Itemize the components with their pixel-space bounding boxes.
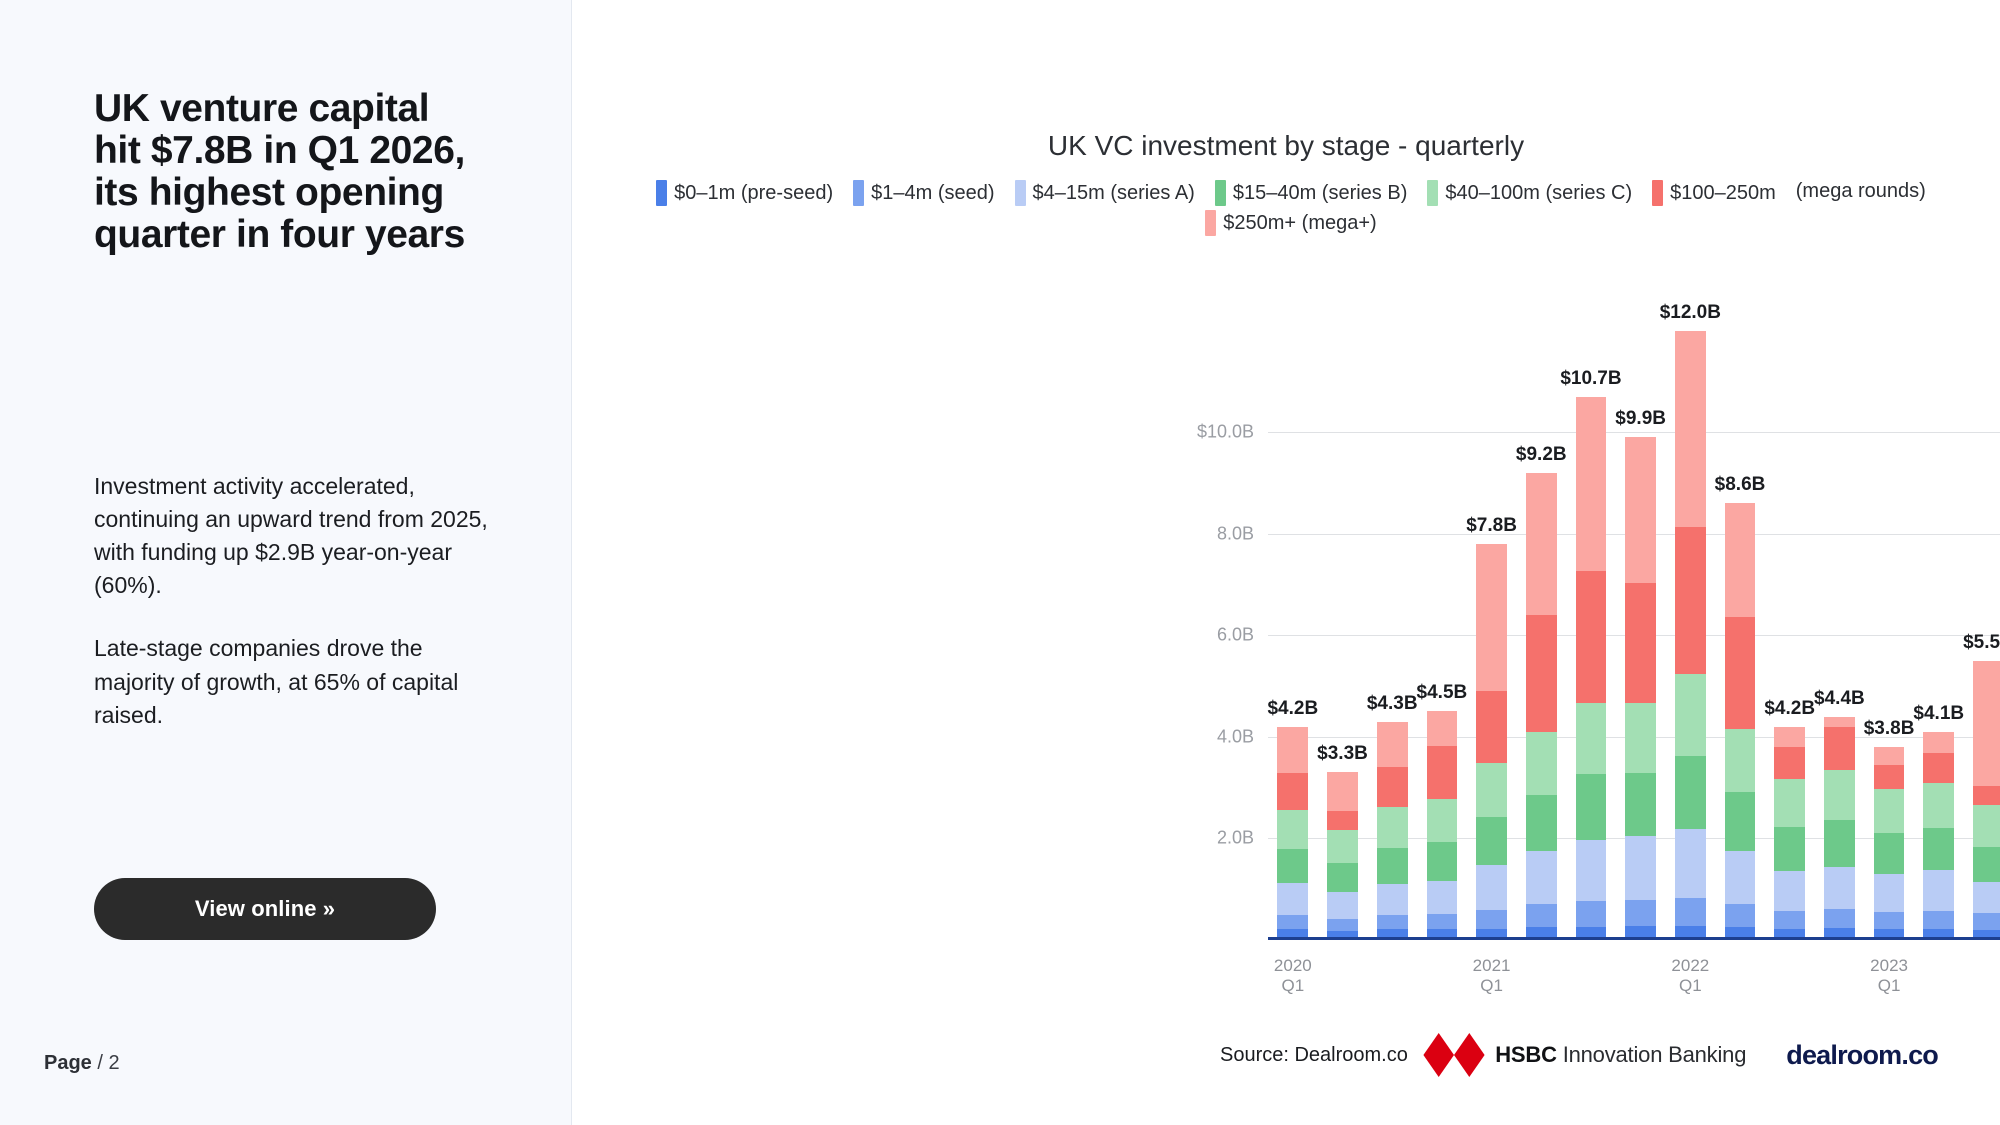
bar-value-label: $9.9B — [1615, 408, 1666, 430]
bar-value-label: $7.8B — [1466, 515, 1517, 537]
bar-segment[interactable] — [1277, 773, 1308, 810]
bar-segment[interactable] — [1476, 910, 1507, 929]
bar-segment[interactable] — [1277, 810, 1308, 849]
legend-item-label: $1–4m (seed) — [871, 182, 994, 205]
bar-slot[interactable]: $5.5B — [1964, 300, 2000, 940]
legend-item[interactable]: $15–40m (series B) — [1215, 180, 1408, 206]
bar-slot[interactable]: $12.0B — [1666, 300, 1716, 940]
bar-value-label: $8.6B — [1715, 474, 1766, 496]
bar-slot[interactable]: $4.5B — [1417, 300, 1467, 940]
bar-segment[interactable] — [1427, 914, 1458, 929]
bar-slot[interactable]: $4.2B — [1268, 300, 1318, 940]
x-axis-tick-label: 2020 Q1 — [1268, 956, 1318, 996]
y-axis-tick-label: 4.0B — [1217, 726, 1254, 747]
bar-segment[interactable] — [1625, 703, 1656, 773]
bar-segment[interactable] — [1327, 830, 1358, 863]
bar-segment[interactable] — [1675, 756, 1706, 830]
bar-segment[interactable] — [1824, 909, 1855, 928]
stacked-bar[interactable]: $8.6B — [1725, 503, 1756, 940]
x-axis-tick-blank — [1765, 956, 1815, 996]
dealroom-logo: dealroom.co — [1786, 1040, 1938, 1071]
legend-item-label: $250m+ (mega+) — [1223, 212, 1376, 235]
x-axis-tick-blank — [1715, 956, 1765, 996]
bar-segment[interactable] — [1725, 792, 1756, 850]
bar-slot[interactable]: $4.2B — [1765, 300, 1815, 940]
bar-segment[interactable] — [1476, 544, 1507, 691]
bar-value-label: $4.1B — [1913, 703, 1964, 725]
bar-segment[interactable] — [1725, 729, 1756, 792]
bar-segment[interactable] — [1277, 849, 1308, 884]
bar-segment[interactable] — [1625, 836, 1656, 899]
stacked-bar[interactable]: $9.2B — [1526, 473, 1557, 940]
bar-segment[interactable] — [1526, 732, 1557, 795]
x-axis-tick-blank — [1566, 956, 1616, 996]
hsbc-regular-text: Innovation Banking — [1563, 1042, 1747, 1067]
stacked-bar[interactable]: $3.3B — [1327, 772, 1358, 940]
bar-segment[interactable] — [1973, 805, 2000, 847]
bar-segment[interactable] — [1576, 571, 1607, 703]
bar-value-label: $3.3B — [1317, 743, 1368, 765]
x-axis-tick-blank — [1914, 956, 1964, 996]
left-panel: UK venture capital hit $7.8B in Q1 2026,… — [0, 0, 572, 1125]
bar-segment[interactable] — [1377, 915, 1408, 929]
bar-segment[interactable] — [1675, 674, 1706, 755]
stacked-bar[interactable]: $9.9B — [1625, 437, 1656, 940]
bar-segment[interactable] — [1774, 747, 1805, 778]
bar-segment[interactable] — [1427, 799, 1458, 842]
bar-segment[interactable] — [1774, 871, 1805, 911]
legend-item-label: $100–250m — [1670, 182, 1776, 205]
bar-value-label: $12.0B — [1660, 302, 1721, 324]
bar-segment[interactable] — [1476, 865, 1507, 910]
bar-segment[interactable] — [1824, 820, 1855, 867]
page-indicator-number: / 2 — [97, 1052, 119, 1074]
bar-value-label: $4.2B — [1267, 698, 1318, 720]
bar-slot[interactable]: $4.4B — [1815, 300, 1865, 940]
x-axis-tick-blank — [1964, 956, 2000, 996]
bar-segment[interactable] — [1774, 827, 1805, 872]
bar-segment[interactable] — [1526, 473, 1557, 615]
legend-item[interactable]: $250m+ (mega+) — [1205, 210, 1376, 236]
bar-segment[interactable] — [1874, 789, 1905, 834]
bar-segment[interactable] — [1427, 711, 1458, 746]
bar-slot[interactable]: $4.3B — [1367, 300, 1417, 940]
bar-segment[interactable] — [1576, 901, 1607, 926]
legend-item[interactable]: $100–250m — [1652, 180, 1776, 206]
hsbc-logo: HSBC Innovation Banking — [1423, 1033, 1746, 1077]
bar-segment[interactable] — [1526, 795, 1557, 851]
bar-segment[interactable] — [1923, 870, 1954, 911]
bar-segment[interactable] — [1327, 892, 1358, 918]
x-axis-tick-blank — [1367, 956, 1417, 996]
legend-item-label: (mega rounds) — [1796, 180, 1926, 203]
stacked-bar[interactable]: $4.4B — [1824, 717, 1855, 940]
bar-segment[interactable] — [1576, 840, 1607, 901]
bar-slot[interactable]: $8.6B — [1715, 300, 1765, 940]
bar-segment[interactable] — [1427, 746, 1458, 799]
bar-segment[interactable] — [1973, 661, 2000, 786]
chart-panel: UK VC investment by stage - quarterly $0… — [572, 0, 2000, 1125]
bar-segment[interactable] — [1277, 883, 1308, 914]
y-axis-tick-label: 2.0B — [1217, 828, 1254, 849]
legend-item-label: $4–15m (series A) — [1033, 182, 1195, 205]
bar-segment[interactable] — [1923, 753, 1954, 782]
bar-segment[interactable] — [1526, 615, 1557, 732]
legend-swatch-icon — [853, 180, 864, 206]
bar-slot[interactable]: $10.7B — [1566, 300, 1616, 940]
bar-segment[interactable] — [1923, 911, 1954, 929]
legend-swatch-icon — [1652, 180, 1663, 206]
bar-value-label: $3.8B — [1864, 718, 1915, 740]
x-axis-tick-blank — [1815, 956, 1865, 996]
bar-segment[interactable] — [1377, 767, 1408, 807]
bar-segment[interactable] — [1277, 915, 1308, 929]
x-axis-tick-blank — [1516, 956, 1566, 996]
page-indicator-word: Page — [44, 1052, 92, 1074]
chart-bars: $4.2B$3.3B$4.3B$4.5B$7.8B$9.2B$10.7B$9.9… — [1268, 300, 2000, 940]
slide-page: UK venture capital hit $7.8B in Q1 2026,… — [0, 0, 2000, 1125]
bar-segment[interactable] — [1625, 583, 1656, 702]
bar-segment[interactable] — [1774, 727, 1805, 747]
stacked-bar[interactable]: $4.2B — [1774, 727, 1805, 940]
bar-value-label: $4.3B — [1367, 693, 1418, 715]
chart-x-axis-line — [1268, 937, 2000, 940]
bar-segment[interactable] — [1377, 807, 1408, 848]
legend-swatch-icon — [1015, 180, 1026, 206]
x-axis-tick-label: 2021 Q1 — [1467, 956, 1517, 996]
bar-segment[interactable] — [1675, 331, 1706, 528]
bar-segment[interactable] — [1874, 765, 1905, 788]
stacked-bar[interactable]: $4.1B — [1923, 732, 1954, 940]
bar-segment[interactable] — [1476, 817, 1507, 865]
bar-value-label: $4.4B — [1814, 688, 1865, 710]
summary-text: Investment activity accelerated, continu… — [94, 470, 494, 732]
bar-slot[interactable]: $3.8B — [1864, 300, 1914, 940]
bar-segment[interactable] — [1675, 898, 1706, 926]
y-axis-tick-label: 8.0B — [1217, 523, 1254, 544]
bar-value-label: $9.2B — [1516, 444, 1567, 466]
source-note: Source: Dealroom.co — [1220, 1044, 1408, 1067]
bar-segment[interactable] — [1675, 829, 1706, 898]
stacked-bar[interactable]: $3.8B — [1874, 747, 1905, 940]
legend-item-label: $0–1m (pre-seed) — [674, 182, 833, 205]
bar-slot[interactable]: $4.1B — [1914, 300, 1964, 940]
page-indicator: Page / 2 — [44, 1052, 120, 1075]
bar-segment[interactable] — [1327, 772, 1358, 811]
bar-segment[interactable] — [1377, 884, 1408, 914]
bar-segment[interactable] — [1923, 732, 1954, 753]
bar-segment[interactable] — [1824, 727, 1855, 770]
bar-segment[interactable] — [1973, 847, 2000, 883]
chart-title: UK VC investment by stage - quarterly — [572, 130, 2000, 162]
x-axis-tick-label: 2023 Q1 — [1864, 956, 1914, 996]
bar-segment[interactable] — [1427, 881, 1458, 915]
bar-segment[interactable] — [1874, 833, 1905, 874]
legend-item[interactable]: $4–15m (series A) — [1015, 180, 1195, 206]
hsbc-wordmark: HSBC Innovation Banking — [1495, 1042, 1746, 1068]
bar-segment[interactable] — [1427, 842, 1458, 881]
bar-slot[interactable]: $9.9B — [1616, 300, 1666, 940]
bar-segment[interactable] — [1625, 773, 1656, 836]
x-axis-tick-label: 2022 Q1 — [1666, 956, 1716, 996]
bar-segment[interactable] — [1576, 774, 1607, 840]
legend-item[interactable]: $40–100m (series C) — [1427, 180, 1632, 206]
bar-segment[interactable] — [1526, 904, 1557, 927]
bar-segment[interactable] — [1277, 727, 1308, 774]
view-online-button[interactable]: View online » — [94, 878, 436, 940]
hsbc-hexagon-icon — [1423, 1033, 1485, 1077]
legend-item-label: $15–40m (series B) — [1233, 182, 1408, 205]
stacked-bar[interactable]: $7.8B — [1476, 544, 1507, 940]
bar-segment[interactable] — [1725, 503, 1756, 617]
bar-segment[interactable] — [1675, 527, 1706, 674]
summary-paragraph-2: Late-stage companies drove the majority … — [94, 632, 494, 731]
bar-segment[interactable] — [1774, 779, 1805, 827]
legend-swatch-icon — [1205, 210, 1216, 236]
bar-segment[interactable] — [1327, 863, 1358, 892]
bar-segment[interactable] — [1923, 783, 1954, 829]
bar-segment[interactable] — [1625, 900, 1656, 926]
chart-legend: $0–1m (pre-seed)$1–4m (seed)$4–15m (seri… — [632, 180, 1950, 236]
stacked-bar[interactable]: $12.0B — [1675, 331, 1706, 940]
bar-slot[interactable]: $3.3B — [1318, 300, 1368, 940]
bar-segment[interactable] — [1923, 828, 1954, 870]
bar-segment[interactable] — [1824, 717, 1855, 728]
stacked-bar[interactable]: $4.2B — [1277, 727, 1308, 940]
bar-slot[interactable]: $7.8B — [1467, 300, 1517, 940]
legend-item[interactable]: (mega rounds) — [1796, 180, 1926, 203]
bar-segment[interactable] — [1576, 703, 1607, 774]
bar-segment[interactable] — [1725, 904, 1756, 927]
bar-segment[interactable] — [1874, 874, 1905, 912]
legend-swatch-icon — [656, 180, 667, 206]
stacked-bar[interactable]: $4.5B — [1427, 711, 1458, 940]
bar-segment[interactable] — [1377, 848, 1408, 885]
legend-item[interactable]: $0–1m (pre-seed) — [656, 180, 833, 206]
y-axis-tick-label: $10.0B — [1197, 422, 1254, 443]
stacked-bar[interactable]: $5.5B — [1973, 661, 2000, 940]
bar-segment[interactable] — [1874, 747, 1905, 765]
bar-segment[interactable] — [1327, 811, 1358, 830]
bar-slot[interactable]: $9.2B — [1516, 300, 1566, 940]
bar-value-label: $4.5B — [1417, 682, 1468, 704]
bar-segment[interactable] — [1327, 919, 1358, 931]
legend-swatch-icon — [1427, 180, 1438, 206]
chart-x-axis-labels: 2020 Q12021 Q12022 Q12023 Q12024 Q12025 … — [1268, 956, 2000, 996]
bar-segment[interactable] — [1874, 912, 1905, 929]
legend-item[interactable]: $1–4m (seed) — [853, 180, 994, 206]
stacked-bar[interactable]: $4.3B — [1377, 722, 1408, 940]
bar-segment[interactable] — [1576, 397, 1607, 572]
bar-segment[interactable] — [1625, 437, 1656, 583]
bar-segment[interactable] — [1973, 786, 2000, 805]
legend-swatch-icon — [1215, 180, 1226, 206]
stacked-bar[interactable]: $10.7B — [1576, 397, 1607, 940]
y-axis-tick-label: 6.0B — [1217, 625, 1254, 646]
x-axis-tick-blank — [1318, 956, 1368, 996]
bar-segment[interactable] — [1774, 911, 1805, 929]
chart-plot-area: $10.0B8.0B6.0B4.0B2.0B $4.2B$3.3B$4.3B$4… — [1220, 300, 2000, 940]
hsbc-bold-text: HSBC — [1495, 1042, 1557, 1067]
bar-value-label: $4.2B — [1764, 698, 1815, 720]
bar-segment[interactable] — [1476, 691, 1507, 763]
bar-segment[interactable] — [1973, 913, 2000, 930]
bar-segment[interactable] — [1377, 722, 1408, 768]
footer-logos: HSBC Innovation Banking dealroom.co — [1423, 1033, 1938, 1077]
bar-segment[interactable] — [1824, 770, 1855, 820]
bar-segment[interactable] — [1973, 882, 2000, 912]
bar-segment[interactable] — [1526, 851, 1557, 904]
x-axis-tick-blank — [1417, 956, 1467, 996]
bar-segment[interactable] — [1725, 851, 1756, 904]
x-axis-tick-blank — [1616, 956, 1666, 996]
bar-value-label: $5.5B — [1963, 632, 2000, 654]
bar-segment[interactable] — [1725, 617, 1756, 729]
legend-item-label: $40–100m (series C) — [1445, 182, 1632, 205]
page-title: UK venture capital hit $7.8B in Q1 2026,… — [94, 88, 474, 256]
bar-segment[interactable] — [1476, 763, 1507, 816]
bar-value-label: $10.7B — [1560, 368, 1621, 390]
bar-segment[interactable] — [1824, 867, 1855, 909]
summary-paragraph-1: Investment activity accelerated, continu… — [94, 470, 494, 602]
